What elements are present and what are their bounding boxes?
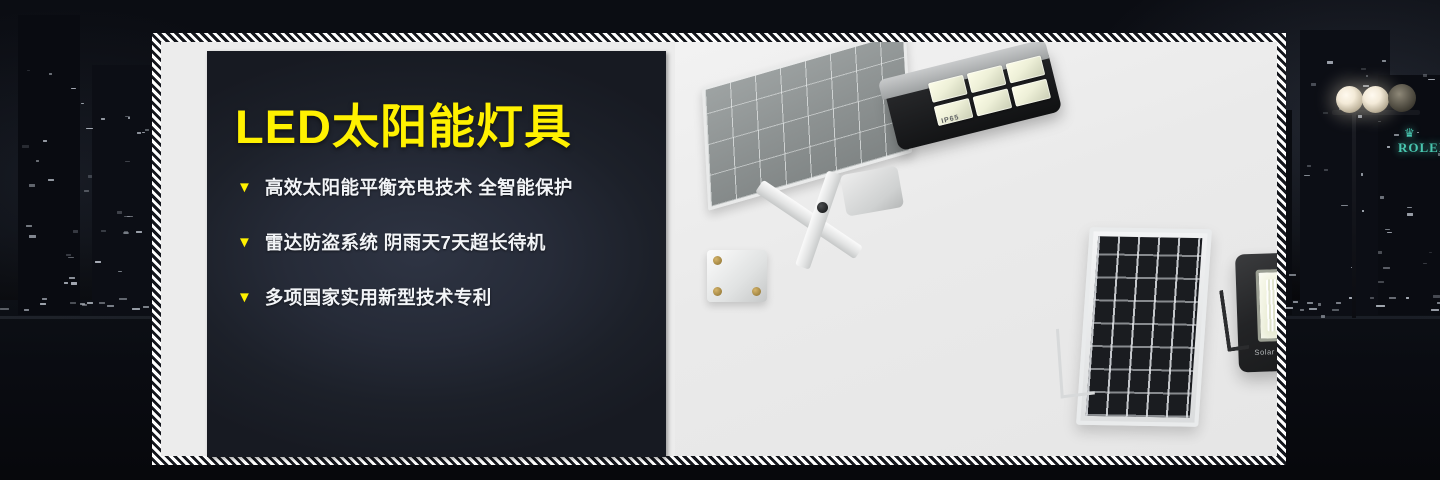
street-light-wall-bracket [707,250,767,302]
street-light-led-head: IP65 [884,47,1063,152]
standalone-solar-panel-product [1076,227,1212,427]
bolt-icon [752,287,761,296]
triangle-down-icon: ▼ [237,235,252,250]
neon-billboard-sign: ROLEX [1398,140,1440,156]
flood-light-name: Solar light [1254,347,1277,357]
flood-light-label: Solar light 100W IP67 [1254,341,1277,361]
street-light-pivot-joint [840,165,904,216]
triangle-down-icon: ▼ [237,290,252,305]
led-module [973,88,1013,116]
product-image-panel: IP65 Solar light 100W [675,42,1277,456]
frame-inner-surface: LED太阳能灯具 ▼ 高效太阳能平衡充电技术 全智能保护 ▼ 雷达防盗系统 阴雨… [161,42,1277,456]
list-item: ▼ 高效太阳能平衡充电技术 全智能保护 [237,174,657,200]
feature-text: 多项国家实用新型技术专利 [265,284,492,310]
list-item: ▼ 雷达防盗系统 阴雨天7天超长待机 [237,229,657,255]
feature-text: 雷达防盗系统 阴雨天7天超长待机 [265,229,546,255]
lamp-globe-icon [1388,84,1416,112]
led-module [1011,79,1051,107]
striped-frame-border: LED太阳能灯具 ▼ 高效太阳能平衡充电技术 全智能保护 ▼ 雷达防盗系统 阴雨… [152,33,1286,465]
bolt-icon [713,256,722,265]
copy-panel: LED太阳能灯具 ▼ 高效太阳能平衡充电技术 全智能保护 ▼ 雷达防盗系统 阴雨… [207,51,666,457]
led-solar-lamp-banner: ♛ ROLEX LED太阳能灯具 ▼ 高效太阳能平衡充电技术 全智能保护 ▼ 雷… [0,0,1440,480]
bolt-icon [713,287,722,296]
crown-icon: ♛ [1404,126,1415,140]
triangle-down-icon: ▼ [237,180,252,195]
list-item: ▼ 多项国家实用新型技术专利 [237,284,657,310]
solar-street-light-product: IP65 [693,52,1023,322]
page-title: LED太阳能灯具 [235,88,572,157]
lamp-globe-icon [1336,86,1363,113]
street-lamp-post [1352,108,1356,318]
radar-sensor-icon [817,202,828,213]
solar-cell-grid [1086,236,1203,417]
flood-light-lens [1256,266,1277,342]
feature-text: 高效太阳能平衡充电技术 全智能保护 [265,174,573,200]
feature-list: ▼ 高效太阳能平衡充电技术 全智能保护 ▼ 雷达防盗系统 阴雨天7天超长待机 ▼… [237,174,657,339]
flood-light-stand [1219,287,1249,351]
solar-flood-light-product: Solar light 100W IP67 [1235,249,1277,372]
solar-panel-stand [1056,325,1095,398]
lamp-globe-icon [1362,86,1389,113]
